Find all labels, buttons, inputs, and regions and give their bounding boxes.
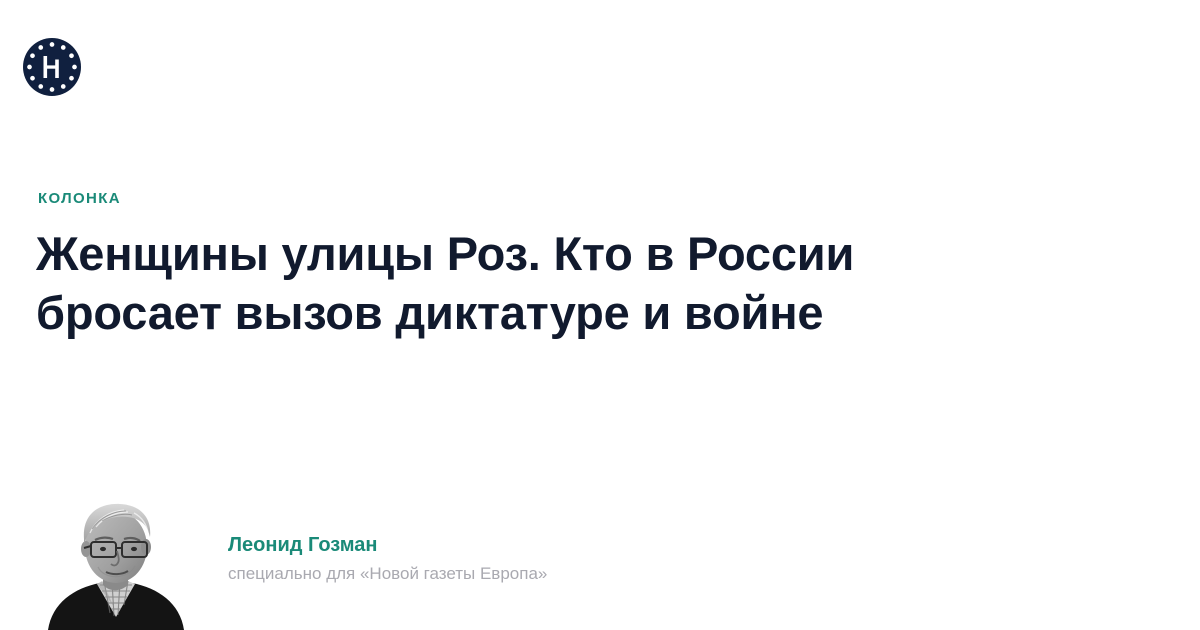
avatar (40, 495, 188, 630)
article-category-label[interactable]: КОЛОНКА (38, 190, 121, 208)
author-portrait-photo (40, 495, 188, 630)
novaya-gazeta-circle-logo-icon (22, 37, 82, 97)
article-social-card: КОЛОНКА Женщины улицы Роз. Кто в России … (0, 0, 1200, 630)
author-block: Леонид Гозман специально для «Новой газе… (40, 495, 680, 630)
site-logo[interactable] (22, 37, 82, 97)
author-role: специально для «Новой газеты Европа» (228, 562, 668, 586)
author-name[interactable]: Леонид Гозман (228, 532, 668, 558)
page-title: Женщины улицы Роз. Кто в России бросает … (36, 224, 1036, 342)
headline-line-2: бросает вызов диктатуре и войне (36, 283, 1036, 342)
author-info: Леонид Гозман специально для «Новой газе… (228, 532, 668, 586)
headline-line-1: Женщины улицы Роз. Кто в России (36, 224, 1036, 283)
